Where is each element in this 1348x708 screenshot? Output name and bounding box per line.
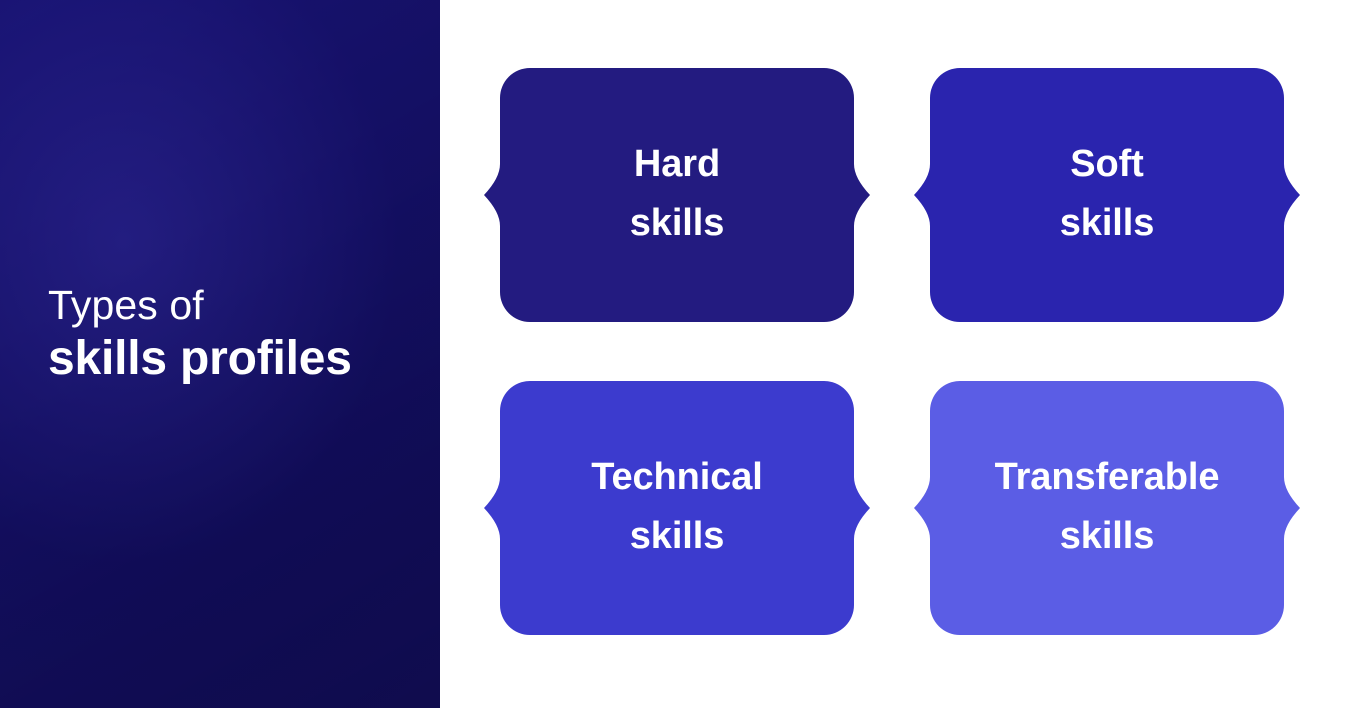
skill-card-label: Technical skills [591,448,763,568]
skill-card-soft-skills[interactable]: Soft skills [914,68,1300,322]
skill-card-label: Transferable skills [995,448,1220,568]
skill-card-label-line-2: skills [630,515,724,557]
skill-card-label: Soft skills [1060,135,1154,255]
skill-card-label-line-2: skills [630,202,724,244]
skill-card-label-line-2: skills [1060,515,1154,557]
skill-card-technical-skills[interactable]: Technical skills [484,381,870,635]
page-title-line-1: Types of [48,285,428,326]
skill-card-transferable-skills[interactable]: Transferable skills [914,381,1300,635]
page-title: Types of skills profiles [48,285,428,383]
skill-card-label-line-1: Hard [634,143,720,185]
page-title-line-2: skills profiles [48,335,428,383]
skill-card-label-line-1: Technical [591,456,763,498]
slide-root: Types of skills profiles Hard skills Sof… [0,0,1348,708]
skill-card-label-line-1: Soft [1070,143,1143,185]
skill-card-hard-skills[interactable]: Hard skills [484,68,870,322]
skill-card-label: Hard skills [630,135,724,255]
skill-card-label-line-2: skills [1060,202,1154,244]
skill-card-label-line-1: Transferable [995,456,1220,498]
left-photo-panel: Types of skills profiles [0,0,440,708]
